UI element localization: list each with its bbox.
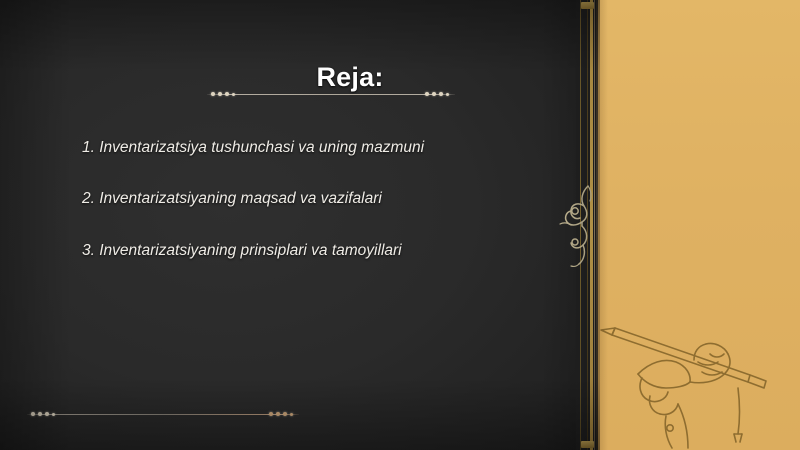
divider-beads-right xyxy=(269,411,295,418)
divider-beads-right xyxy=(425,91,451,98)
presentation-slide: Reja: 1. Inventarizatsiya tushunchasi va… xyxy=(0,0,800,450)
divider-beads-left xyxy=(211,91,237,98)
divider-beads-left xyxy=(31,411,57,418)
page-title: Reja: xyxy=(120,62,580,93)
border-cap-bottom xyxy=(581,441,594,448)
agenda-list: 1. Inventarizatsiya tushunchasi va uning… xyxy=(82,138,552,292)
border-cap-top xyxy=(581,2,594,9)
bottom-divider xyxy=(27,410,299,419)
divider-rule xyxy=(27,414,299,415)
hand-holding-pen-icon xyxy=(598,300,780,450)
list-item: 2. Inventarizatsiyaning maqsad va vazifa… xyxy=(82,189,552,208)
gold-side-panel xyxy=(598,0,800,450)
title-divider xyxy=(207,90,455,99)
list-item: 3. Inventarizatsiyaning prinsiplari va t… xyxy=(82,241,552,260)
list-item: 1. Inventarizatsiya tushunchasi va uning… xyxy=(82,138,552,157)
divider-rule xyxy=(207,94,455,95)
ornamental-scroll-icon xyxy=(558,182,602,268)
